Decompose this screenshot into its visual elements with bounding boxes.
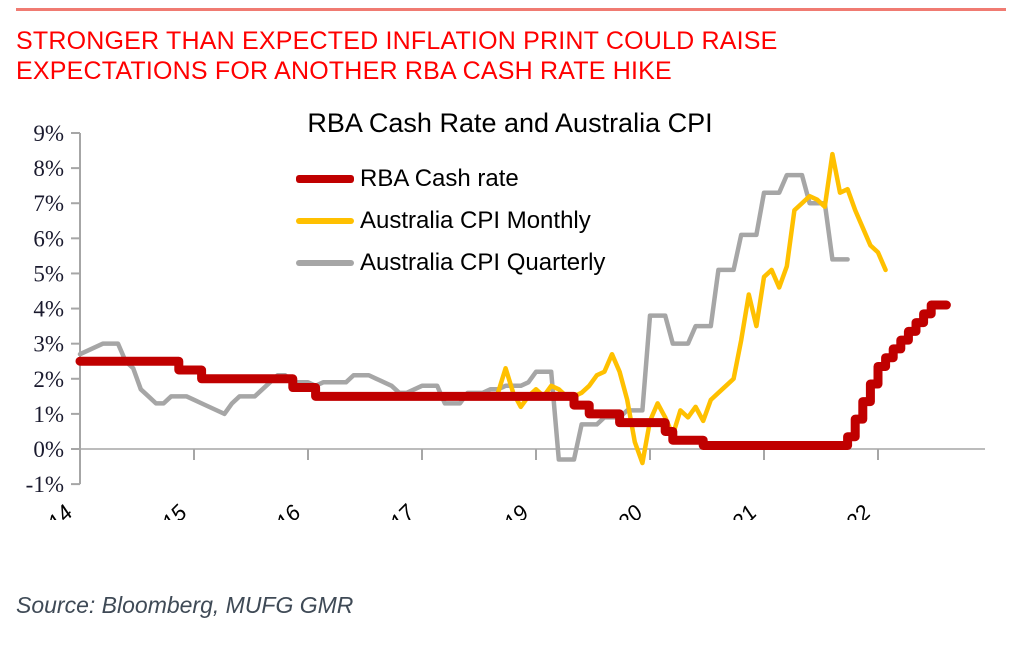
chart-plot: 9%8%7%6%5%4%3%2%1%0%-1%Jan-14Apr-15Jul-1… (0, 100, 1022, 520)
chart-figure: RBA Cash Rate and Australia CPI RBA Cash… (0, 100, 1022, 520)
x-axis-tick-label: Apr-15 (126, 499, 192, 520)
top-accent-rule (16, 8, 1006, 11)
y-axis-tick-label: 1% (33, 402, 64, 427)
source-note: Source: Bloomberg, MUFG GMR (16, 592, 353, 619)
series-line-rba-cash-rate (80, 305, 946, 445)
y-axis-tick-label: 9% (33, 121, 64, 146)
y-axis-tick-label: 8% (33, 156, 64, 181)
x-axis-tick-label: Jul-21 (701, 500, 762, 520)
y-axis-tick-label: 3% (33, 332, 64, 357)
y-axis-tick-label: 0% (33, 437, 64, 462)
series-line-australia-cpi-quarterly (80, 175, 848, 459)
y-axis-tick-label: 6% (33, 226, 64, 251)
x-axis-tick-label: Jan-14 (12, 500, 78, 520)
x-axis-tick-label: Jul-16 (245, 499, 306, 520)
x-axis-tick-label: Oct-22 (811, 500, 875, 520)
x-axis-tick-label: Oct-17 (355, 499, 420, 520)
y-axis-tick-label: -1% (26, 472, 64, 497)
headline: STRONGER THAN EXPECTED INFLATION PRINT C… (16, 26, 966, 86)
y-axis-tick-label: 2% (33, 367, 64, 392)
y-axis-tick-label: 4% (33, 297, 64, 322)
y-axis-tick-label: 5% (33, 261, 64, 286)
y-axis-tick-label: 7% (33, 191, 64, 216)
x-axis-tick-label: Apr-20 (582, 499, 648, 520)
x-axis-tick-label: Jan-19 (468, 500, 534, 520)
